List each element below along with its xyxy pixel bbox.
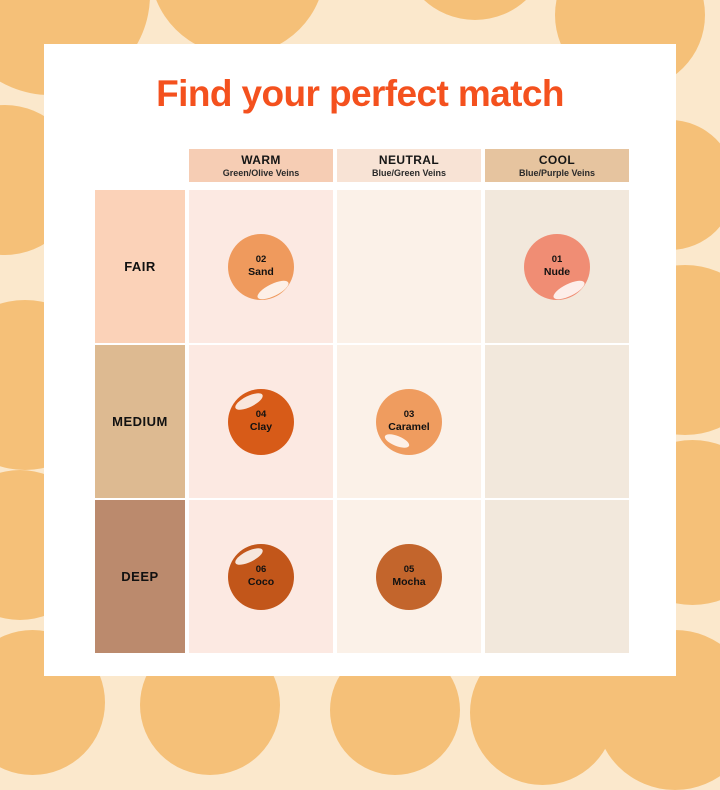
column-header-title: COOL bbox=[539, 154, 575, 166]
column-header-cool: COOLBlue/Purple Veins bbox=[485, 149, 629, 182]
column-header-title: NEUTRAL bbox=[379, 154, 439, 166]
row-label-text: DEEP bbox=[121, 569, 158, 584]
shade-swatch-clay[interactable]: 04Clay bbox=[228, 389, 294, 455]
page-title: Find your perfect match bbox=[44, 73, 676, 115]
shade-swatch-caramel[interactable]: 03Caramel bbox=[376, 389, 442, 455]
shade-swatch-coco[interactable]: 06Coco bbox=[228, 544, 294, 610]
background-dot bbox=[400, 0, 550, 20]
row-label-text: FAIR bbox=[124, 259, 156, 274]
row-label-text: MEDIUM bbox=[112, 414, 168, 429]
row-label-medium: MEDIUM bbox=[95, 345, 185, 498]
shade-number: 02 bbox=[256, 254, 267, 266]
row-label-deep: DEEP bbox=[95, 500, 185, 653]
shade-name: Caramel bbox=[388, 421, 429, 434]
row-label-fair: FAIR bbox=[95, 190, 185, 343]
column-header-subtitle: Green/Olive Veins bbox=[223, 169, 300, 178]
shade-match-matrix: WARMGreen/Olive VeinsNEUTRALBlue/Green V… bbox=[95, 149, 636, 657]
column-header-title: WARM bbox=[241, 154, 281, 166]
shade-name: Clay bbox=[250, 421, 272, 434]
matrix-cell-deep-cool[interactable] bbox=[485, 500, 629, 653]
column-header-subtitle: Blue/Green Veins bbox=[372, 169, 446, 178]
shade-name: Sand bbox=[248, 266, 274, 279]
shade-number: 05 bbox=[404, 564, 415, 576]
column-header-subtitle: Blue/Purple Veins bbox=[519, 169, 595, 178]
column-header-warm: WARMGreen/Olive Veins bbox=[189, 149, 333, 182]
shade-name: Nude bbox=[544, 266, 570, 279]
shade-swatch-mocha[interactable]: 05Mocha bbox=[376, 544, 442, 610]
shade-name: Mocha bbox=[392, 576, 425, 589]
matrix-cell-fair-neutral[interactable] bbox=[337, 190, 481, 343]
shade-swatch-sand[interactable]: 02Sand bbox=[228, 234, 294, 300]
shade-number: 06 bbox=[256, 564, 267, 576]
shade-number: 01 bbox=[552, 254, 563, 266]
shade-number: 03 bbox=[404, 409, 415, 421]
shade-swatch-nude[interactable]: 01Nude bbox=[524, 234, 590, 300]
shade-number: 04 bbox=[256, 409, 267, 421]
content-card: Find your perfect match WARMGreen/Olive … bbox=[44, 44, 676, 676]
column-header-neutral: NEUTRALBlue/Green Veins bbox=[337, 149, 481, 182]
matrix-cell-medium-cool[interactable] bbox=[485, 345, 629, 498]
shade-name: Coco bbox=[248, 576, 274, 589]
